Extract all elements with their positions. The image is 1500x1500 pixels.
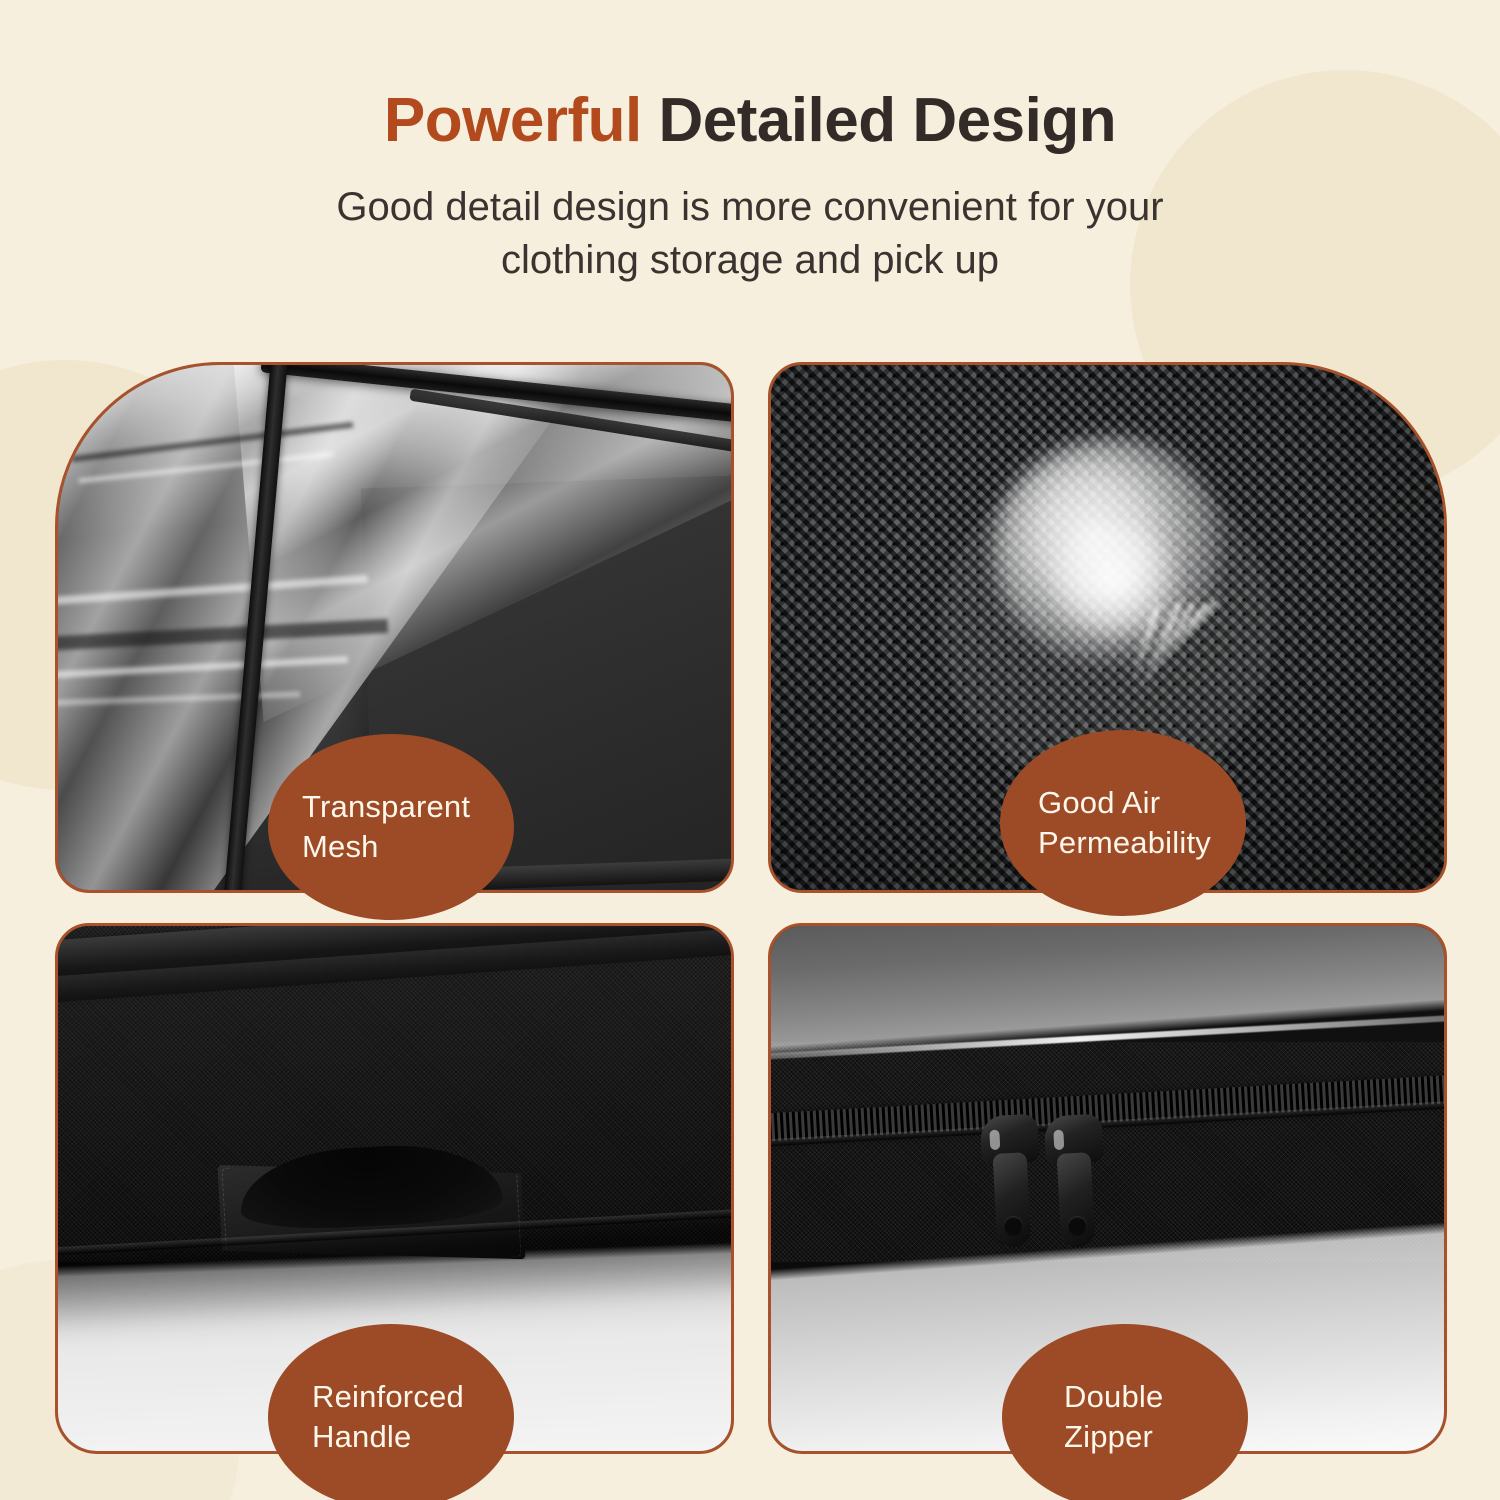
feature-panel-grid <box>55 362 1447 1454</box>
badge-transparent-mesh: Transparent Mesh <box>268 734 514 920</box>
infographic-page: Powerful Detailed Design Good detail des… <box>0 0 1500 1500</box>
page-title-accent: Powerful <box>384 86 642 155</box>
badge-good-air-permeability: Good Air Permeability <box>1000 730 1246 916</box>
header: Powerful Detailed Design Good detail des… <box>0 88 1500 287</box>
zipper-pull-left-icon <box>980 1114 1045 1249</box>
badge-double-zipper: Double Zipper <box>1002 1324 1248 1500</box>
badge-double-zipper-label: Double Zipper <box>1064 1377 1163 1458</box>
badge-good-air-permeability-label: Good Air Permeability <box>1038 783 1211 864</box>
zipper-pull-right-icon <box>1044 1114 1109 1249</box>
page-title: Powerful Detailed Design <box>0 88 1500 155</box>
page-title-rest: Detailed Design <box>642 86 1116 155</box>
badge-reinforced-handle-label: Reinforced Handle <box>312 1377 464 1458</box>
page-subtitle: Good detail design is more convenient fo… <box>270 181 1230 287</box>
badge-reinforced-handle: Reinforced Handle <box>268 1324 514 1500</box>
badge-transparent-mesh-label: Transparent Mesh <box>302 787 470 868</box>
